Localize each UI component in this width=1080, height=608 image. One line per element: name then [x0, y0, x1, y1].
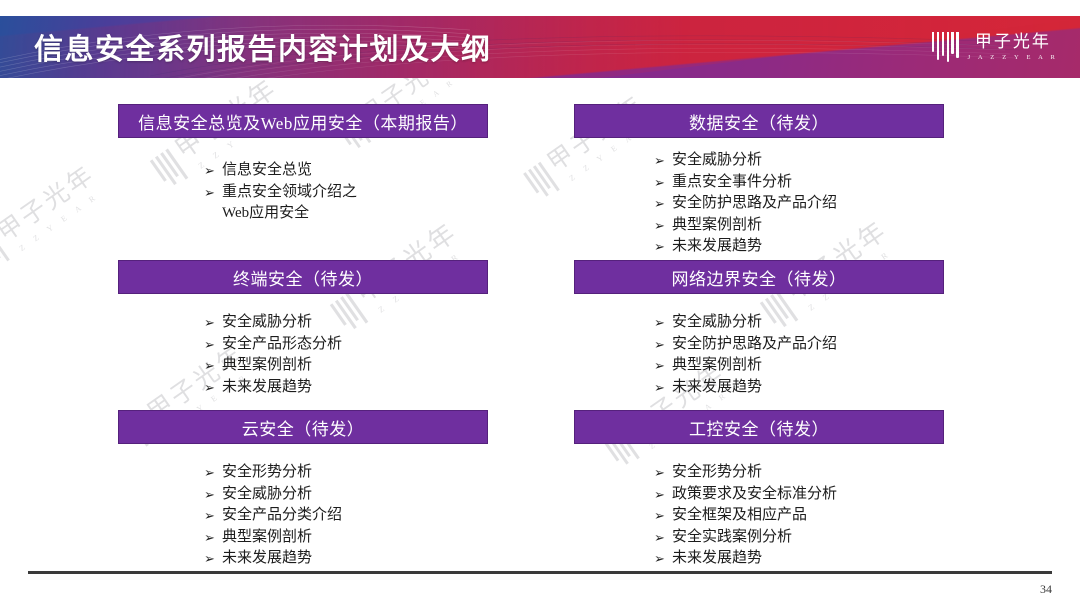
list-item: ➢安全威胁分析	[654, 150, 944, 172]
list-item-label: 安全威胁分析	[672, 312, 944, 334]
section-item-list: ➢安全形势分析➢政策要求及安全标准分析➢安全框架及相应产品➢安全实践案例分析➢未…	[574, 462, 944, 570]
section-heading[interactable]: 网络边界安全（待发）	[574, 260, 944, 294]
slide-canvas: 信息安全系列报告内容计划及大纲 甲子光年 J A Z Z Y E A R 甲子光…	[0, 0, 1080, 608]
list-item: ➢典型案例剖析	[204, 355, 488, 377]
list-item: ➢重点安全领域介绍之	[204, 182, 488, 204]
bullet-arrow-icon: ➢	[654, 172, 672, 194]
bullet-arrow-icon: ➢	[654, 527, 672, 549]
section-left-1: 信息安全总览及Web应用安全（本期报告）➢信息安全总览➢重点安全领域介绍之➢We…	[118, 104, 488, 225]
bullet-arrow-icon: ➢	[654, 462, 672, 484]
list-item-label: 信息安全总览	[222, 160, 488, 182]
section-heading[interactable]: 云安全（待发）	[118, 410, 488, 444]
section-item-list: ➢安全威胁分析➢安全产品形态分析➢典型案例剖析➢未来发展趋势	[118, 312, 488, 398]
list-item: ➢安全威胁分析	[204, 484, 488, 506]
list-item: ➢安全框架及相应产品	[654, 505, 944, 527]
list-item-label: 安全产品分类介绍	[222, 505, 488, 527]
list-item-label: 安全威胁分析	[672, 150, 944, 172]
brand-name-en: J A Z Z Y E A R	[968, 55, 1058, 62]
section-left-3: 云安全（待发）➢安全形势分析➢安全威胁分析➢安全产品分类介绍➢典型案例剖析➢未来…	[118, 410, 488, 570]
list-item-label: 未来发展趋势	[222, 548, 488, 570]
bullet-arrow-icon: ➢	[654, 355, 672, 377]
list-item: ➢安全产品分类介绍	[204, 505, 488, 527]
list-item: ➢典型案例剖析	[654, 355, 944, 377]
bullet-arrow-icon: ➢	[204, 505, 222, 527]
list-item: ➢典型案例剖析	[654, 215, 944, 237]
section-heading[interactable]: 工控安全（待发）	[574, 410, 944, 444]
list-item: ➢安全威胁分析	[654, 312, 944, 334]
list-item-label: 安全形势分析	[672, 462, 944, 484]
section-heading[interactable]: 终端安全（待发）	[118, 260, 488, 294]
list-item-label: 安全框架及相应产品	[672, 505, 944, 527]
brand-bars-icon	[932, 32, 959, 62]
list-item: ➢安全实践案例分析	[654, 527, 944, 549]
list-item-label: 典型案例剖析	[672, 215, 944, 237]
brand-wordmark: 甲子光年 J A Z Z Y E A R	[968, 33, 1058, 62]
bullet-arrow-icon: ➢	[654, 215, 672, 237]
list-item: ➢安全防护思路及产品介绍	[654, 193, 944, 215]
list-item: ➢典型案例剖析	[204, 527, 488, 549]
bullet-arrow-icon: ➢	[654, 334, 672, 356]
bullet-arrow-icon: ➢	[204, 527, 222, 549]
bullet-arrow-icon: ➢	[654, 505, 672, 527]
section-right-2: 网络边界安全（待发）➢安全威胁分析➢安全防护思路及产品介绍➢典型案例剖析➢未来发…	[574, 260, 944, 398]
list-item: ➢政策要求及安全标准分析	[654, 484, 944, 506]
list-item-label: 安全威胁分析	[222, 312, 488, 334]
bullet-arrow-icon: ➢	[204, 462, 222, 484]
list-item-label: 典型案例剖析	[222, 527, 488, 549]
footer-divider	[28, 571, 1052, 574]
list-item: ➢未来发展趋势	[204, 377, 488, 399]
list-item: ➢重点安全事件分析	[654, 172, 944, 194]
list-item: ➢安全防护思路及产品介绍	[654, 334, 944, 356]
page-number: 34	[1040, 582, 1052, 597]
list-item-label: 安全形势分析	[222, 462, 488, 484]
bullet-arrow-icon: ➢	[204, 377, 222, 399]
section-left-2: 终端安全（待发）➢安全威胁分析➢安全产品形态分析➢典型案例剖析➢未来发展趋势	[118, 260, 488, 398]
brand-name-cn: 甲子光年	[975, 33, 1051, 50]
section-item-list: ➢安全威胁分析➢重点安全事件分析➢安全防护思路及产品介绍➢典型案例剖析➢未来发展…	[574, 150, 944, 258]
bullet-arrow-icon: ➢	[654, 236, 672, 258]
list-item: ➢安全产品形态分析	[204, 334, 488, 356]
slide-content: 信息安全总览及Web应用安全（本期报告）➢信息安全总览➢重点安全领域介绍之➢We…	[0, 78, 1080, 568]
page-title: 信息安全系列报告内容计划及大纲	[34, 26, 492, 68]
section-heading[interactable]: 数据安全（待发）	[574, 104, 944, 138]
list-item: ➢未来发展趋势	[654, 377, 944, 399]
bullet-arrow-icon: ➢	[654, 377, 672, 399]
bullet-arrow-icon: ➢	[654, 150, 672, 172]
bullet-arrow-icon: ➢	[654, 484, 672, 506]
list-item-label: 重点安全事件分析	[672, 172, 944, 194]
list-item-label: 未来发展趋势	[222, 377, 488, 399]
list-item: ➢安全形势分析	[204, 462, 488, 484]
list-item-label: 安全实践案例分析	[672, 527, 944, 549]
list-item: ➢Web应用安全	[204, 203, 488, 225]
section-item-list: ➢安全形势分析➢安全威胁分析➢安全产品分类介绍➢典型案例剖析➢未来发展趋势	[118, 462, 488, 570]
list-item: ➢未来发展趋势	[204, 548, 488, 570]
list-item: ➢信息安全总览	[204, 160, 488, 182]
section-right-3: 工控安全（待发）➢安全形势分析➢政策要求及安全标准分析➢安全框架及相应产品➢安全…	[574, 410, 944, 570]
list-item: ➢未来发展趋势	[654, 236, 944, 258]
list-item-label: 安全防护思路及产品介绍	[672, 193, 944, 215]
bullet-arrow-icon: ➢	[204, 355, 222, 377]
section-right-1: 数据安全（待发）➢安全威胁分析➢重点安全事件分析➢安全防护思路及产品介绍➢典型案…	[574, 104, 944, 258]
list-item-label: 典型案例剖析	[222, 355, 488, 377]
list-item-label: Web应用安全	[222, 203, 488, 225]
list-item-label: 安全产品形态分析	[222, 334, 488, 356]
section-item-list: ➢信息安全总览➢重点安全领域介绍之➢Web应用安全	[118, 160, 488, 225]
bullet-arrow-icon: ➢	[654, 548, 672, 570]
list-item-label: 未来发展趋势	[672, 377, 944, 399]
list-item-label: 典型案例剖析	[672, 355, 944, 377]
bullet-arrow-icon: ➢	[654, 193, 672, 215]
bullet-arrow-icon: ➢	[204, 548, 222, 570]
bullet-arrow-icon: ➢	[204, 312, 222, 334]
list-item: ➢安全形势分析	[654, 462, 944, 484]
bullet-arrow-icon: ➢	[204, 182, 222, 204]
list-item: ➢未来发展趋势	[654, 548, 944, 570]
bullet-arrow-icon: ➢	[204, 334, 222, 356]
list-item-label: 未来发展趋势	[672, 236, 944, 258]
slide-header-banner: 信息安全系列报告内容计划及大纲 甲子光年 J A Z Z Y E A R	[0, 16, 1080, 78]
list-item-label: 安全威胁分析	[222, 484, 488, 506]
bullet-arrow-icon: ➢	[654, 312, 672, 334]
bullet-arrow-icon: ➢	[204, 160, 222, 182]
list-item-label: 安全防护思路及产品介绍	[672, 334, 944, 356]
bullet-arrow-icon: ➢	[204, 484, 222, 506]
brand-logo: 甲子光年 J A Z Z Y E A R	[932, 32, 1058, 62]
list-item-label: 未来发展趋势	[672, 548, 944, 570]
section-item-list: ➢安全威胁分析➢安全防护思路及产品介绍➢典型案例剖析➢未来发展趋势	[574, 312, 944, 398]
list-item-label: 政策要求及安全标准分析	[672, 484, 944, 506]
list-item: ➢安全威胁分析	[204, 312, 488, 334]
list-item-label: 重点安全领域介绍之	[222, 182, 488, 204]
section-heading[interactable]: 信息安全总览及Web应用安全（本期报告）	[118, 104, 488, 138]
